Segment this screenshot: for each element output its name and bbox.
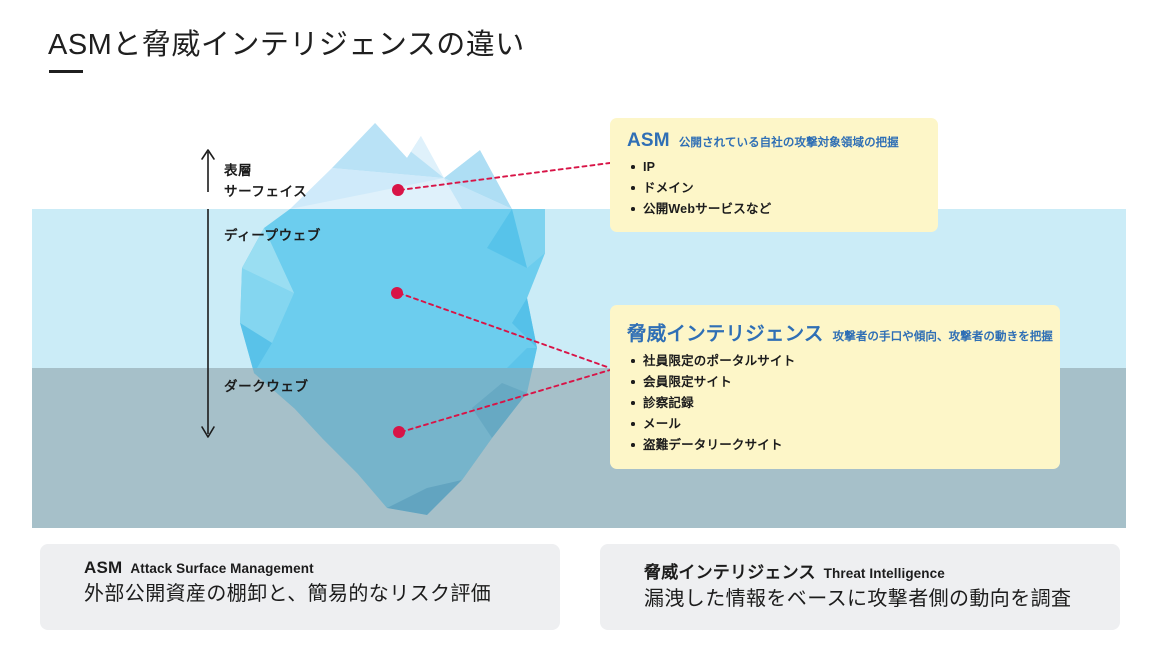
- summary-card-threat-intelligence-title: 脅威インテリジェンス: [644, 558, 816, 583]
- summary-card-asm-header: ASM Attack Surface Management: [84, 558, 540, 578]
- list-item: ドメイン: [627, 178, 922, 199]
- title-underline: [49, 70, 83, 73]
- summary-card-asm-title: ASM: [84, 558, 122, 578]
- scale-label-deep-web: ディープウェブ: [224, 224, 321, 244]
- summary-card-asm-description: 外部公開資産の棚卸と、簡易的なリスク評価: [84, 582, 540, 607]
- callout-asm-header: ASM 公開されている自社の攻撃対象領域の把握: [627, 130, 922, 152]
- list-item: 会員限定サイト: [627, 372, 1044, 393]
- callout-threat-intelligence-title: 脅威インテリジェンス: [627, 317, 824, 346]
- page-title: ASMと脅威インテリジェンスの違い: [48, 28, 525, 63]
- list-item: IP: [627, 157, 922, 178]
- scale-label-surface-line1: 表層: [224, 159, 252, 179]
- title-block: ASMと脅威インテリジェンスの違い: [48, 28, 525, 63]
- summary-card-asm-english: Attack Surface Management: [130, 561, 313, 576]
- callout-asm: ASM 公開されている自社の攻撃対象領域の把握 IP ドメイン 公開Webサービ…: [610, 118, 938, 232]
- callout-asm-subtitle: 公開されている自社の攻撃対象領域の把握: [679, 134, 899, 150]
- summary-card-threat-intelligence-header: 脅威インテリジェンス Threat Intelligence: [644, 558, 1100, 583]
- callout-asm-title: ASM: [627, 130, 670, 152]
- scale-label-dark-web: ダークウェブ: [224, 375, 309, 395]
- arrow-up-icon: [202, 150, 214, 192]
- leader-line-surface: [400, 163, 610, 190]
- list-item: 公開Webサービスなど: [627, 199, 922, 220]
- summary-card-asm: ASM Attack Surface Management 外部公開資産の棚卸と…: [40, 544, 560, 630]
- list-item: メール: [627, 414, 1044, 435]
- callout-threat-intelligence-list: 社員限定のポータルサイト 会員限定サイト 診察記録 メール 盗難データリークサイ…: [627, 351, 1044, 456]
- list-item: 診察記録: [627, 393, 1044, 414]
- slide-root: ASMと脅威インテリジェンスの違い: [0, 0, 1160, 653]
- list-item: 社員限定のポータルサイト: [627, 351, 1044, 372]
- summary-card-threat-intelligence: 脅威インテリジェンス Threat Intelligence 漏洩した情報をベー…: [600, 544, 1120, 630]
- scale-label-surface-line2: サーフェイス: [224, 180, 307, 200]
- summary-card-threat-intelligence-english: Threat Intelligence: [824, 566, 945, 581]
- callout-threat-intelligence: 脅威インテリジェンス 攻撃者の手口や傾向、攻撃者の動きを把握 社員限定のポータル…: [610, 305, 1060, 469]
- callout-threat-intelligence-header: 脅威インテリジェンス 攻撃者の手口や傾向、攻撃者の動きを把握: [627, 317, 1044, 346]
- list-item: 盗難データリークサイト: [627, 435, 1044, 456]
- summary-card-threat-intelligence-description: 漏洩した情報をベースに攻撃者側の動向を調査: [644, 587, 1100, 612]
- callout-asm-list: IP ドメイン 公開Webサービスなど: [627, 157, 922, 220]
- callout-threat-intelligence-subtitle: 攻撃者の手口や傾向、攻撃者の動きを把握: [833, 328, 1053, 344]
- surface-marker-dot[interactable]: [392, 184, 404, 196]
